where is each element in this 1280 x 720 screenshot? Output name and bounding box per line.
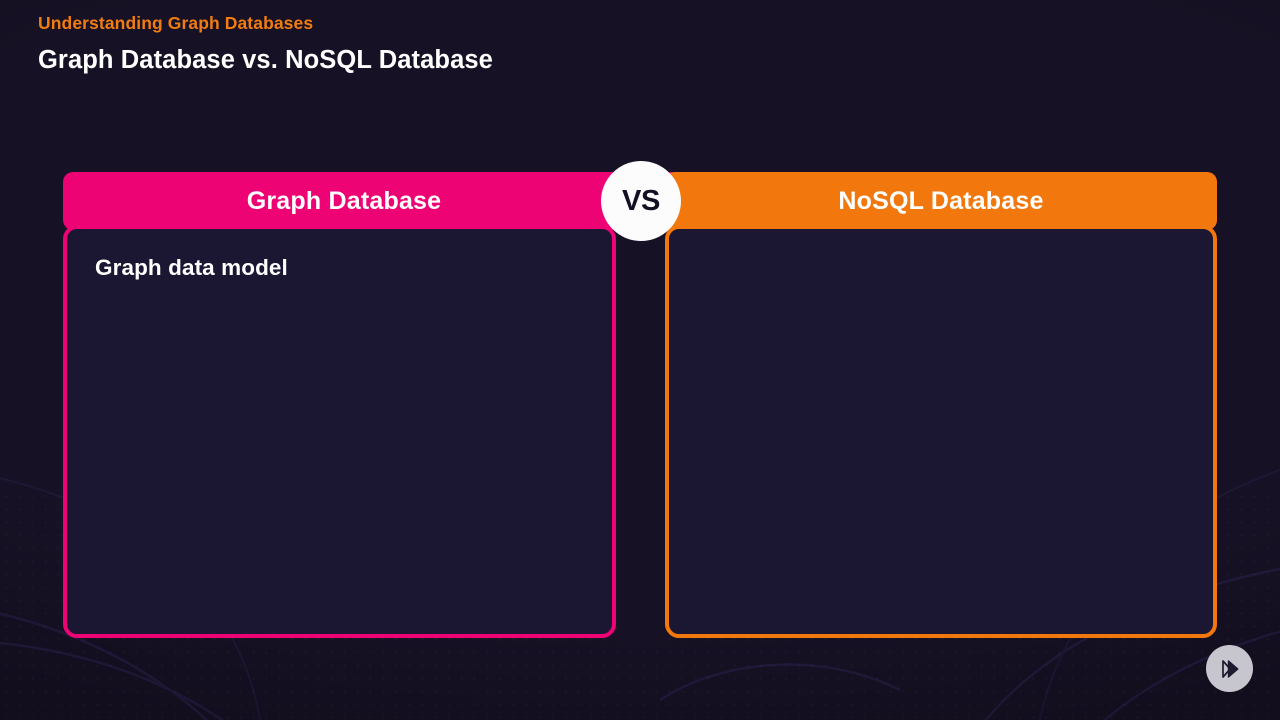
page-title: Graph Database vs. NoSQL Database [38,46,493,75]
panel-header-label-graph-database: Graph Database [247,187,442,216]
panel-body-nosql-database [665,225,1217,638]
comparison-container: Graph Database Graph data model NoSQL Da… [0,0,1280,720]
brand-logo[interactable] [1206,645,1253,692]
list-item: Graph data model [95,253,582,283]
slide-header: Understanding Graph Databases Graph Data… [38,14,493,76]
eyebrow-text: Understanding Graph Databases [38,14,493,33]
panel-header-nosql-database: NoSQL Database [665,172,1217,230]
panel-gap-spacer [616,225,665,645]
vs-badge: VS [601,161,681,241]
panel-header-label-nosql-database: NoSQL Database [838,187,1043,216]
vs-badge-label: VS [622,185,660,218]
panel-body-graph-database: Graph data model [63,225,616,638]
play-triangle-icon [1217,656,1243,682]
